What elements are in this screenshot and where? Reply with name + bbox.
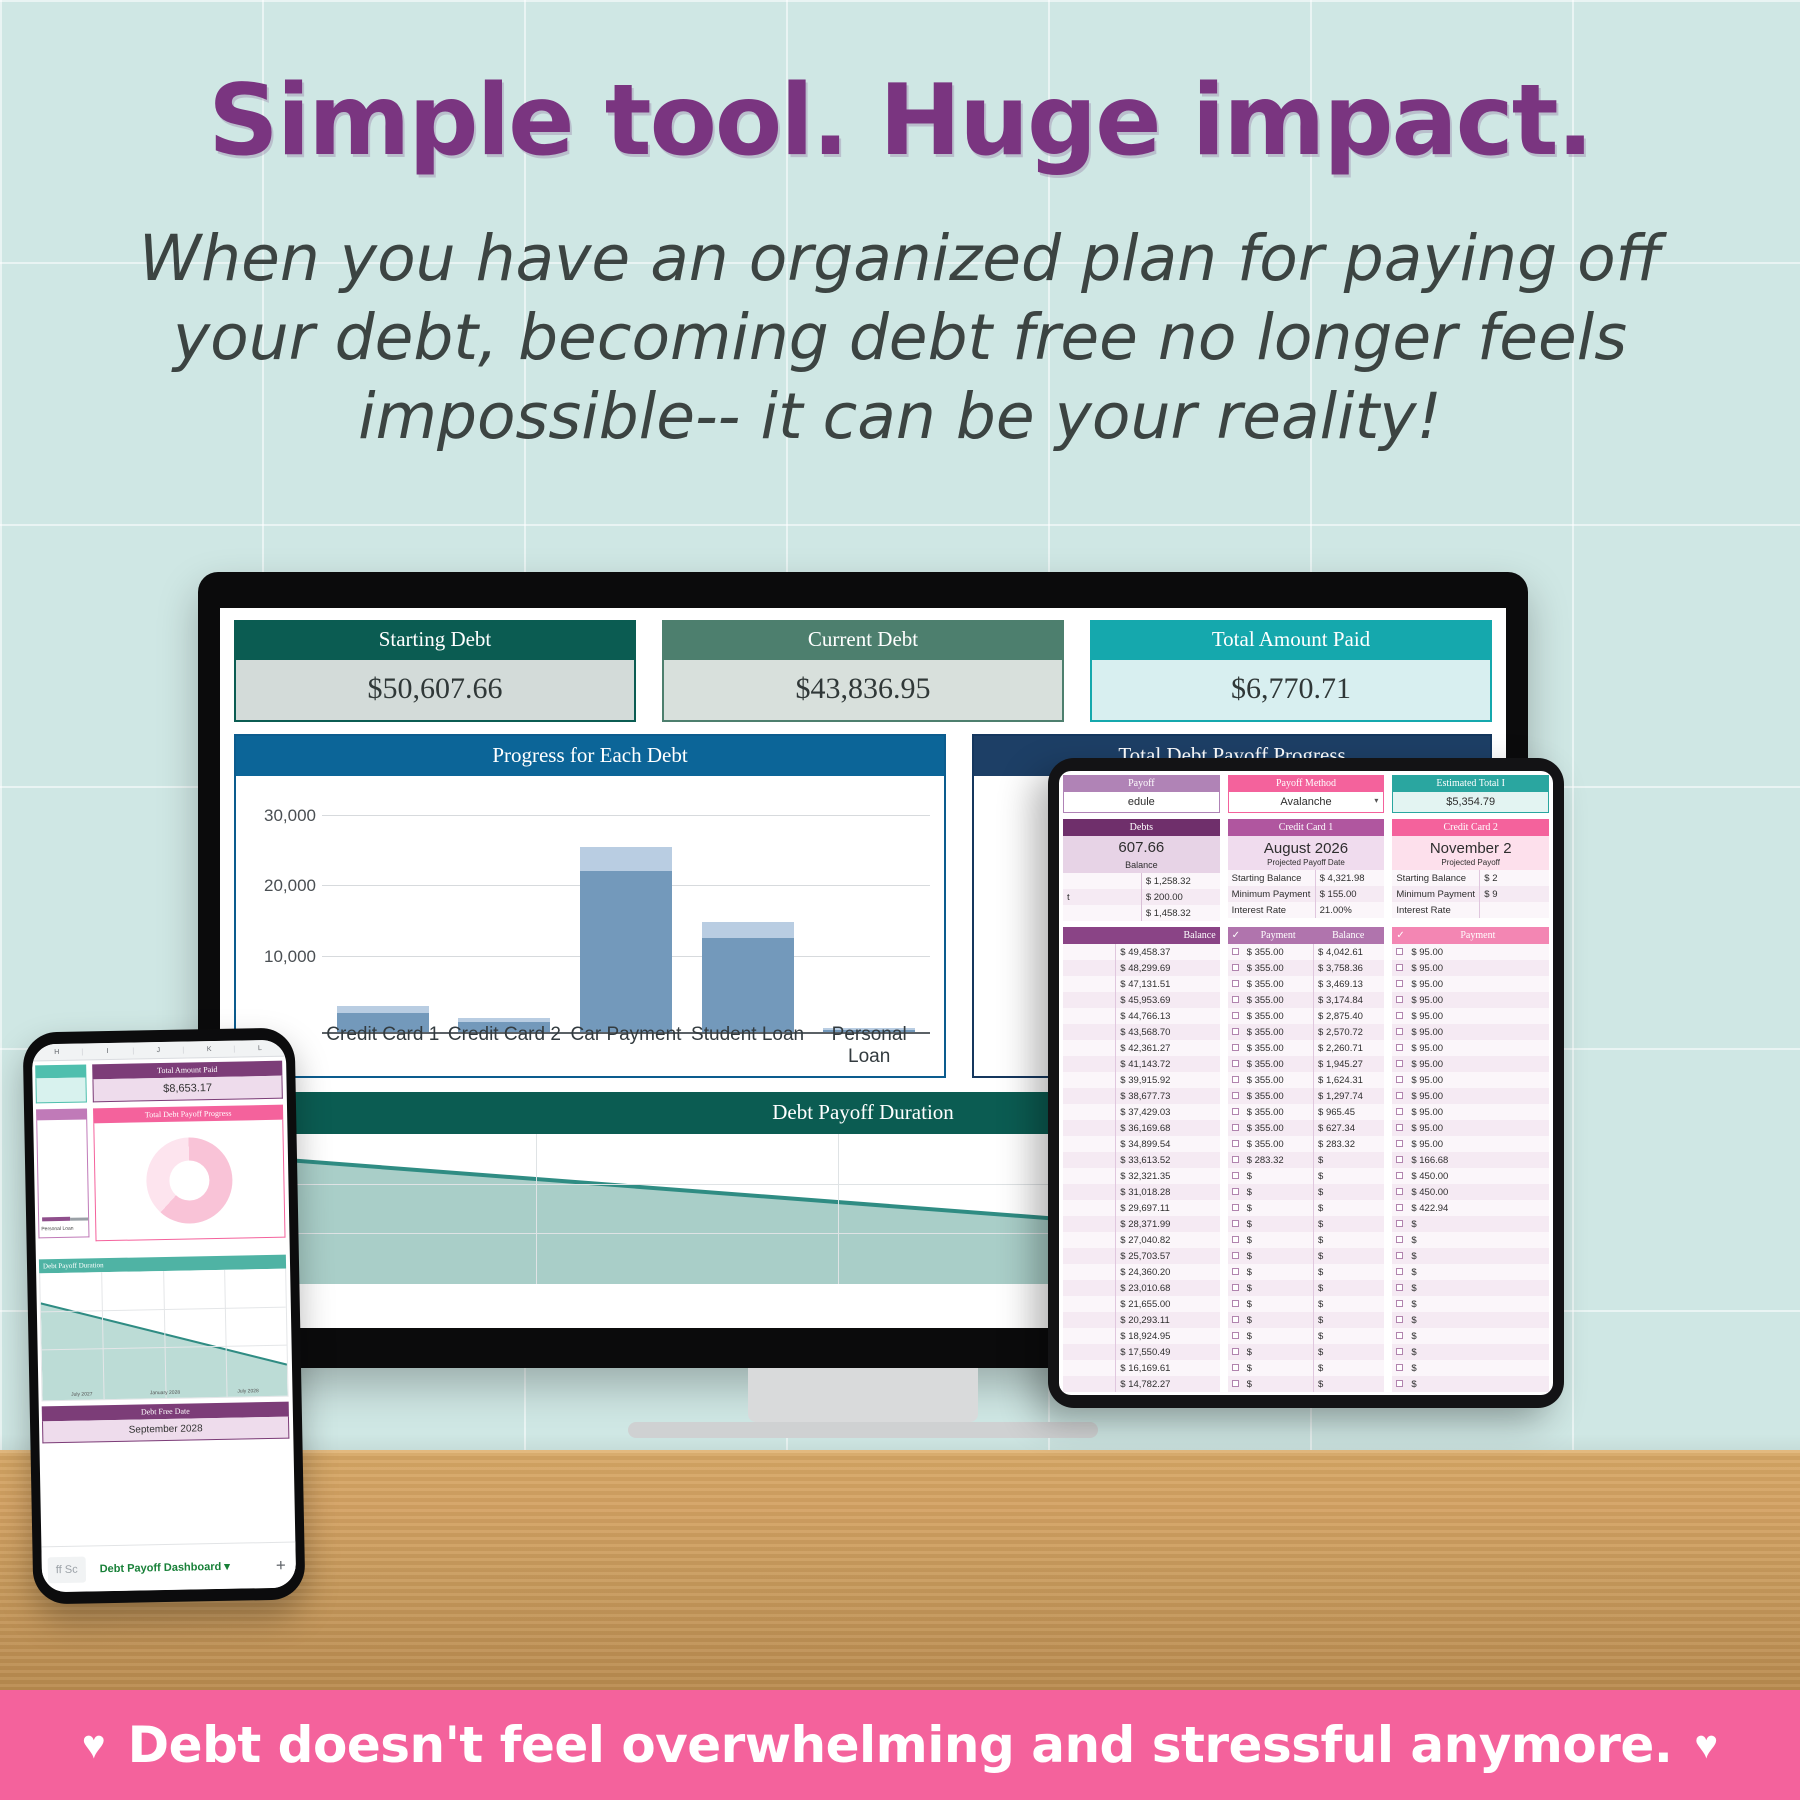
table-row: $$ [1228,1232,1385,1248]
row-checkbox[interactable] [1232,1076,1239,1083]
balance-cell: $ 965.45 [1313,1104,1384,1120]
table-row: $ 29,697.11 [1063,1200,1220,1216]
checkbox-cell[interactable] [1392,1120,1407,1136]
table-row: $ 95.00 [1392,1120,1549,1136]
row-checkbox[interactable] [1232,1172,1239,1179]
row-checkbox[interactable] [1232,996,1239,1003]
checkbox-cell[interactable] [1392,1232,1407,1248]
table-row: $ [1392,1280,1549,1296]
payment-cell: $ 450.00 [1407,1184,1549,1200]
summary-rows: $ 1,258.32t$ 200.00$ 1,458.32 [1063,873,1220,921]
payment-cell: $ 95.00 [1407,1104,1549,1120]
payment-cell: $ [1243,1360,1313,1376]
table-row: $ 95.00 [1392,992,1549,1008]
payoff-date: August 2026 [1228,836,1385,858]
spreadsheet-column-header[interactable]: H [32,1048,83,1056]
row-value: $ 2 [1479,870,1549,886]
row-spacer [1063,1312,1116,1328]
row-checkbox[interactable] [1396,996,1403,1003]
table-row: $ 355.00$ 2,260.71 [1228,1040,1385,1056]
table-row: $ 43,568.70 [1063,1024,1220,1040]
monitor-stand-neck [748,1368,978,1422]
checkbox-cell[interactable] [1392,1104,1407,1120]
bottom-banner: ♥ Debt doesn't feel overwhelming and str… [0,1690,1800,1800]
balance-cell: $ 29,697.11 [1116,1200,1219,1216]
chevron-down-icon[interactable]: ▾ [1374,796,1378,805]
table-row: $ 355.00$ 2,875.40 [1228,1008,1385,1024]
table-row: $ 355.00$ 1,624.31 [1228,1072,1385,1088]
payment-cell: $ [1243,1296,1313,1312]
checkbox-cell[interactable] [1392,960,1407,976]
table-row: Starting Balance$ 4,321.98 [1228,870,1385,886]
add-sheet-icon[interactable]: + [276,1555,286,1575]
checkbox-cell[interactable] [1392,976,1407,992]
credit-card-1-rows: Starting Balance$ 4,321.98Minimum Paymen… [1228,870,1385,918]
table-row: $$ [1228,1328,1385,1344]
row-value: $ 155.00 [1315,886,1385,902]
checkbox-cell[interactable] [1392,1360,1407,1376]
table-row: $ 44,766.13 [1063,1008,1220,1024]
checkbox-cell[interactable] [1228,944,1243,960]
table-row: $ [1392,1248,1549,1264]
balance-cell: $ 1,945.27 [1313,1056,1384,1072]
row-checkbox[interactable] [1396,1012,1403,1019]
column-header-group: ✓ Payment [1392,927,1549,944]
payment-cell: $ [1243,1264,1313,1280]
row-value: $ 1,258.32 [1141,873,1220,889]
row-checkbox[interactable] [1396,1076,1403,1083]
table-row: $ [1392,1216,1549,1232]
payment-cell: $ 422.94 [1407,1200,1549,1216]
balance-cell: $ [1313,1264,1384,1280]
balance-cell: $ 1,624.31 [1313,1072,1384,1088]
payment-cell: $ 95.00 [1407,1120,1549,1136]
table-row: $ 95.00 [1392,1072,1549,1088]
payment-cell: $ 355.00 [1243,1056,1313,1072]
table-row: $ 166.68 [1392,1152,1549,1168]
checkbox-cell[interactable] [1228,1024,1243,1040]
balance-cell: $ 38,677.73 [1116,1088,1219,1104]
row-checkbox[interactable] [1232,1092,1239,1099]
payment-cell: $ 355.00 [1243,944,1313,960]
row-checkbox[interactable] [1396,1380,1403,1387]
x-axis-tick-label: Credit Card 2 [444,1024,566,1068]
payment-cell: $ 95.00 [1407,1024,1549,1040]
balance-cell: $ 25,703.57 [1116,1248,1219,1264]
row-checkbox[interactable] [1232,1124,1239,1131]
row-spacer [1063,1216,1116,1232]
table-row: $ [1392,1312,1549,1328]
stat-value: $43,836.95 [662,660,1064,722]
checkbox-cell[interactable] [1392,1296,1407,1312]
bar-chart-x-labels: Credit Card 1Credit Card 2Car PaymentStu… [322,1024,930,1068]
checkbox-cell[interactable] [1228,1200,1243,1216]
checkbox-cell[interactable] [1392,1200,1407,1216]
row-checkbox[interactable] [1232,1204,1239,1211]
checkbox-cell[interactable] [1392,1280,1407,1296]
row-checkbox[interactable] [1396,1284,1403,1291]
payment-cell: $ 95.00 [1407,960,1549,976]
checkbox-cell[interactable] [1392,1328,1407,1344]
checkbox-cell[interactable] [1392,1376,1407,1392]
payment-cell: $ [1243,1328,1313,1344]
row-checkbox[interactable] [1232,1220,1239,1227]
row-checkbox[interactable] [1232,1236,1239,1243]
table-row: $$ [1228,1312,1385,1328]
table-row: $ 355.00$ 3,469.13 [1228,976,1385,992]
phone-mid-row: Personal Loan Total Debt Payoff Progress [33,1099,290,1254]
balance-cell: $ 39,915.92 [1116,1072,1219,1088]
phone-sheet-tabbar: ff Sc Debt Payoff Dashboard ▾ + [41,1542,296,1593]
checkbox-cell[interactable] [1228,1120,1243,1136]
checkbox-cell[interactable] [1392,1152,1407,1168]
credit-card-2-rows: Starting Balance$ 2Minimum Payment$ 9Int… [1392,870,1549,918]
row-checkbox[interactable] [1396,1188,1403,1195]
table-row: $ 1,458.32 [1063,905,1220,921]
balance-cell: $ 16,169.61 [1116,1360,1219,1376]
tablet-schedule-tables: Balance $ 49,458.37$ 48,299.69$ 47,131.5… [1059,927,1553,1392]
balance-cell: $ 18,924.95 [1116,1328,1219,1344]
checkbox-cell[interactable] [1392,1216,1407,1232]
balance-cell: $ [1313,1376,1384,1392]
checkbox-cell[interactable] [1228,1088,1243,1104]
checkbox-cell[interactable] [1228,1296,1243,1312]
row-checkbox[interactable] [1232,1284,1239,1291]
row-checkbox[interactable] [1396,1348,1403,1355]
payment-cell: $ 355.00 [1243,960,1313,976]
table-row: $ 95.00 [1392,976,1549,992]
row-checkbox[interactable] [1396,1108,1403,1115]
card-label: Debts [1063,819,1220,836]
row-label: Starting Balance [1392,870,1479,886]
row-checkbox[interactable] [1396,1332,1403,1339]
row-checkbox[interactable] [1232,1348,1239,1355]
table-row: $ 95.00 [1392,1104,1549,1120]
column-header-balance: Balance [1316,930,1380,941]
checkbox-cell[interactable] [1392,1088,1407,1104]
sheet-tab-inactive[interactable]: ff Sc [48,1556,86,1583]
phone-left-stat-head [35,1064,86,1078]
row-checkbox[interactable] [1232,1108,1239,1115]
payment-cell: $ [1243,1200,1313,1216]
row-checkbox[interactable] [1396,1220,1403,1227]
spreadsheet-column-header[interactable]: I [83,1047,134,1055]
select-value: Avalanche [1280,796,1331,808]
spreadsheet-column-header[interactable]: L [235,1044,286,1052]
headline-block: Simple tool. Huge impact. [0,72,1800,170]
card-title: Credit Card 1 [1228,819,1385,836]
payoff-date: November 2 [1392,836,1549,858]
card-value[interactable]: edule [1063,792,1220,813]
schedule-table-cc1: ✓ Payment Balance $ 355.00$ 4,042.61$ 35… [1228,927,1385,1392]
balance-cell: $ 47,131.51 [1116,976,1219,992]
payment-cell: $ [1243,1184,1313,1200]
checkbox-cell[interactable] [1392,1008,1407,1024]
row-checkbox[interactable] [1232,1156,1239,1163]
table-row: $$ [1228,1296,1385,1312]
checkbox-cell[interactable] [1392,1168,1407,1184]
row-spacer [1063,992,1116,1008]
summary-sub-label: Balance [1063,859,1220,873]
row-label: Starting Balance [1228,870,1315,886]
checkbox-cell[interactable] [1392,1024,1407,1040]
table-row: $ 17,550.49 [1063,1344,1220,1360]
checkbox-cell[interactable] [1228,1232,1243,1248]
checkbox-cell[interactable] [1392,1312,1407,1328]
cc1-schedule-rows: $ 355.00$ 4,042.61$ 355.00$ 3,758.36$ 35… [1228,944,1385,1392]
row-checkbox[interactable] [1232,1140,1239,1147]
row-checkbox[interactable] [1232,1300,1239,1307]
balance-cell: $ 24,360.20 [1116,1264,1219,1280]
table-row: $ 27,040.82 [1063,1232,1220,1248]
table-row: $ 355.00$ 627.34 [1228,1120,1385,1136]
row-checkbox[interactable] [1396,1252,1403,1259]
balance-cell: $ 36,169.68 [1116,1120,1219,1136]
checkbox-cell[interactable] [1228,1312,1243,1328]
row-checkbox[interactable] [1232,1316,1239,1323]
checkbox-cell[interactable] [1228,1056,1243,1072]
table-row: $ 422.94 [1392,1200,1549,1216]
payment-cell: $ [1407,1216,1549,1232]
stat-card-total-paid: Total Amount Paid $6,770.71 [1090,620,1492,722]
payment-cell: $ 355.00 [1243,976,1313,992]
checkbox-cell[interactable] [1228,1168,1243,1184]
checkbox-cell[interactable] [1228,1136,1243,1152]
checkbox-cell[interactable] [1228,1360,1243,1376]
checkbox-cell[interactable] [1228,1264,1243,1280]
spreadsheet-column-header[interactable]: K [184,1045,235,1053]
table-row: $ 34,899.54 [1063,1136,1220,1152]
stat-value: $50,607.66 [234,660,636,722]
checkbox-cell[interactable] [1228,1040,1243,1056]
checkbox-cell[interactable] [1228,1008,1243,1024]
checkbox-cell[interactable] [1392,1040,1407,1056]
row-checkbox[interactable] [1396,964,1403,971]
phone-screen[interactable]: HIJKL Total Amount Paid $8,653.17 Person… [32,1040,296,1593]
payment-cell: $ [1407,1248,1549,1264]
table-row: $ 47,131.51 [1063,976,1220,992]
checkbox-cell[interactable] [1392,1264,1407,1280]
row-checkbox[interactable] [1396,1060,1403,1067]
payment-cell: $ [1243,1344,1313,1360]
balance-cell: $ 37,429.03 [1116,1104,1219,1120]
checkbox-cell[interactable] [1228,1184,1243,1200]
card-label: Payoff Method [1228,775,1385,792]
row-checkbox[interactable] [1396,1364,1403,1371]
spreadsheet-column-header[interactable]: J [133,1046,184,1054]
balance-cell: $ 32,321.35 [1116,1168,1219,1184]
table-row: Starting Balance$ 2 [1392,870,1549,886]
row-spacer [1063,1120,1116,1136]
payment-cell: $ 95.00 [1407,1008,1549,1024]
payment-cell: $ 355.00 [1243,1136,1313,1152]
payment-cell: $ 355.00 [1243,992,1313,1008]
table-row: $ [1392,1296,1549,1312]
row-label: Interest Rate [1392,902,1479,918]
payment-cell: $ [1243,1376,1313,1392]
row-checkbox[interactable] [1396,1092,1403,1099]
row-spacer [1063,1280,1116,1296]
checkbox-cell[interactable] [1392,1344,1407,1360]
payment-cell: $ [1407,1280,1549,1296]
table-row: $ 14,782.27 [1063,1376,1220,1392]
checkbox-cell[interactable] [1228,1104,1243,1120]
balance-cell: $ 23,010.68 [1116,1280,1219,1296]
phone-duration-section: Debt Payoff Duration July 2027January 20… [36,1249,293,1402]
checkbox-cell[interactable] [1228,1280,1243,1296]
row-checkbox[interactable] [1396,1236,1403,1243]
balance-cell: $ 14,782.27 [1116,1376,1219,1392]
checkbox-cell[interactable] [1392,1184,1407,1200]
table-row: $ 16,169.61 [1063,1360,1220,1376]
row-checkbox[interactable] [1396,1140,1403,1147]
balance-cell: $ 44,766.13 [1116,1008,1219,1024]
table-row: $$ [1228,1344,1385,1360]
table-row: $ 31,018.28 [1063,1184,1220,1200]
checkbox-cell[interactable] [1228,976,1243,992]
row-checkbox[interactable] [1232,1044,1239,1051]
table-row: $ 32,321.35 [1063,1168,1220,1184]
tablet-screen[interactable]: Payoff edule Payoff Method Avalanche ▾ E… [1059,771,1553,1395]
checkbox-cell[interactable] [1228,992,1243,1008]
sheet-tab-active[interactable]: Debt Payoff Dashboard ▾ [91,1553,238,1583]
stat-card-starting-debt: Starting Debt $50,607.66 [234,620,636,722]
bar-segment-paid [337,1006,429,1013]
table-row: $$ [1228,1376,1385,1392]
row-checkbox[interactable] [1396,1124,1403,1131]
checkbox-cell[interactable] [1392,1136,1407,1152]
row-checkbox[interactable] [1396,948,1403,955]
row-checkbox[interactable] [1396,1268,1403,1275]
payoff-method-select[interactable]: Avalanche ▾ [1228,792,1385,813]
bar-segment-remaining [702,938,794,1034]
bar-segment-paid [702,922,794,939]
row-spacer [1063,1232,1116,1248]
row-checkbox[interactable] [1232,948,1239,955]
cc2-schedule-rows: $ 95.00$ 95.00$ 95.00$ 95.00$ 95.00$ 95.… [1392,944,1549,1392]
row-checkbox[interactable] [1232,980,1239,987]
debt-free-value: September 2028 [42,1417,289,1444]
row-spacer [1063,1344,1116,1360]
mini-bar-label: Personal Loan [41,1226,73,1233]
mini-bar-body: Personal Loan [36,1119,89,1238]
row-checkbox[interactable] [1232,964,1239,971]
row-checkbox[interactable] [1232,1364,1239,1371]
row-checkbox[interactable] [1232,1268,1239,1275]
balance-cell: $ 3,758.36 [1313,960,1384,976]
table-row: $ 95.00 [1392,960,1549,976]
row-checkbox[interactable] [1232,1252,1239,1259]
bar-chart-bars [322,802,930,1034]
row-spacer [1063,1328,1116,1344]
table-row: $ 28,371.99 [1063,1216,1220,1232]
tablet-summary-card: Debts 607.66 Balance $ 1,258.32t$ 200.00… [1063,819,1220,921]
table-row: $ [1392,1232,1549,1248]
table-row: $ 36,169.68 [1063,1120,1220,1136]
balance-cell: $ [1313,1360,1384,1376]
checkbox-cell[interactable] [1392,1056,1407,1072]
table-row: $$ [1228,1248,1385,1264]
row-checkbox[interactable] [1396,1156,1403,1163]
bar-segment-remaining [580,871,672,1034]
checkbox-cell[interactable] [1228,960,1243,976]
checkbox-cell[interactable] [1228,1152,1243,1168]
row-checkbox[interactable] [1232,1012,1239,1019]
summary-value: 607.66 [1063,836,1220,859]
sheet-tab-label: Debt Payoff Dashboard [100,1561,222,1575]
table-row: $ 355.00$ 1,297.74 [1228,1088,1385,1104]
payment-cell: $ 450.00 [1407,1168,1549,1184]
table-row: $ 95.00 [1392,1136,1549,1152]
phone-duration-chart: July 2027January 2028July 2028 [39,1269,288,1402]
table-row: $ [1392,1264,1549,1280]
row-spacer [1063,1200,1116,1216]
mini-bar-track [70,1217,88,1220]
stat-label: Total Amount Paid [1090,620,1492,660]
table-row: $ 48,299.69 [1063,960,1220,976]
checkbox-cell[interactable] [1392,992,1407,1008]
row-checkbox[interactable] [1396,980,1403,987]
balance-cell: $ 17,550.49 [1116,1344,1219,1360]
check-column-header: ✓ [1396,930,1404,941]
row-spacer [1063,1152,1116,1168]
row-spacer [1063,1056,1116,1072]
row-checkbox[interactable] [1232,1332,1239,1339]
row-checkbox[interactable] [1396,1316,1403,1323]
checkbox-cell[interactable] [1228,1216,1243,1232]
row-checkbox[interactable] [1396,1172,1403,1179]
payment-cell: $ [1243,1280,1313,1296]
table-row: $ 41,143.72 [1063,1056,1220,1072]
table-row: $ 95.00 [1392,1056,1549,1072]
chevron-down-icon[interactable]: ▾ [224,1561,230,1573]
tablet-card-payoff-method: Payoff Method Avalanche ▾ [1228,775,1385,813]
balance-cell: $ 41,143.72 [1116,1056,1219,1072]
checkbox-cell[interactable] [1228,1344,1243,1360]
checkbox-cell[interactable] [1228,1248,1243,1264]
checkbox-cell[interactable] [1228,1376,1243,1392]
table-row: $ 283.32$ [1228,1152,1385,1168]
row-checkbox[interactable] [1232,1060,1239,1067]
row-checkbox[interactable] [1396,1204,1403,1211]
x-axis-tick-label: July 2027 [71,1391,93,1397]
checkbox-cell[interactable] [1392,1072,1407,1088]
balance-column: $ 49,458.37$ 48,299.69$ 47,131.51$ 45,95… [1063,944,1220,1392]
schedule-table-balance: Balance $ 49,458.37$ 48,299.69$ 47,131.5… [1063,927,1220,1392]
balance-cell: $ [1313,1312,1384,1328]
checkbox-cell[interactable] [1392,1248,1407,1264]
row-checkbox[interactable] [1396,1044,1403,1051]
row-checkbox[interactable] [1232,1188,1239,1195]
subheadline: When you have an organized plan for payi… [90,220,1710,456]
checkbox-cell[interactable] [1228,1072,1243,1088]
x-axis-tick-label: Credit Card 1 [322,1024,444,1068]
table-row: $ 95.00 [1392,1008,1549,1024]
row-checkbox[interactable] [1396,1028,1403,1035]
balance-cell: $ 34,899.54 [1116,1136,1219,1152]
row-checkbox[interactable] [1232,1028,1239,1035]
balance-cell: $ 42,361.27 [1116,1040,1219,1056]
row-checkbox[interactable] [1396,1300,1403,1307]
phone-card-payoff-progress: Total Debt Payoff Progress [87,1105,290,1253]
row-checkbox[interactable] [1232,1380,1239,1387]
table-row: t$ 200.00 [1063,889,1220,905]
row-value: 21.00% [1315,902,1385,918]
checkbox-cell[interactable] [1228,1328,1243,1344]
tablet-top-cards: Payoff edule Payoff Method Avalanche ▾ E… [1059,771,1553,819]
checkbox-cell[interactable] [1392,944,1407,960]
table-row: $ 20,293.11 [1063,1312,1220,1328]
